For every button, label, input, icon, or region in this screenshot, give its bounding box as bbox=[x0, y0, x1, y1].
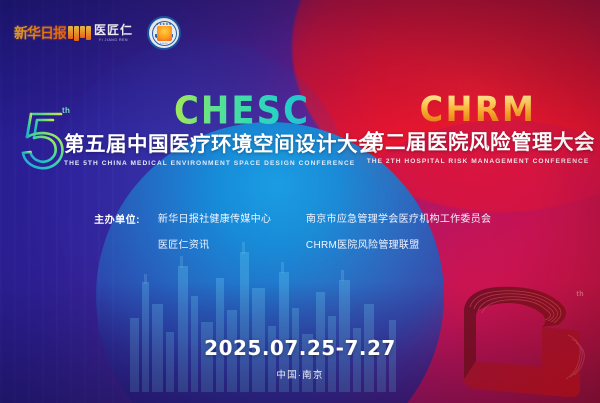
organizer-item: 南京市应急管理学会医疗机构工作委员会 bbox=[306, 210, 506, 225]
organizer-item: 新华日报社健康传媒中心 bbox=[158, 210, 306, 225]
yijiangren-logo[interactable]: 医匠仁 YI JIANG REN bbox=[94, 24, 133, 42]
sponsor-logo-bar: 新华日报 医匠仁 YI JIANG REN ★★★★★ ••••• bbox=[14, 16, 181, 50]
decorative-two-suffix: th bbox=[576, 291, 584, 298]
xinhua-daily-health-media-logo[interactable]: 新华日报 bbox=[14, 22, 80, 44]
organizers-section: 主办单位: 新华日报社健康传媒中心 医匠仁资讯 南京市应急管理学会医疗机构工作委… bbox=[0, 210, 600, 251]
badge-emblem-icon bbox=[157, 26, 172, 41]
chrm-title-en: THE 2TH HOSPITAL RISK MANAGEMENT CONFERE… bbox=[364, 158, 592, 165]
organizers-column-2: 南京市应急管理学会医疗机构工作委员会 CHRM医院风险管理联盟 bbox=[306, 210, 506, 251]
conference-titles: th CHESC 第五届中国医疗环境空间设计大会 THE 5TH CHINA M… bbox=[0, 92, 600, 184]
chrm-acronym: CHRM bbox=[364, 92, 592, 127]
emergency-management-association-badge[interactable]: ★★★★★ ••••• bbox=[147, 16, 181, 50]
right-conference-block: CHRM 第二届医院风险管理大会 THE 2TH HOSPITAL RISK M… bbox=[364, 92, 592, 165]
organizers-label: 主办单位: bbox=[94, 210, 140, 251]
conference-poster: 新华日报 医匠仁 YI JIANG REN ★★★★★ ••••• bbox=[0, 0, 600, 403]
organizer-item: CHRM医院风险管理联盟 bbox=[306, 236, 506, 251]
xinhua-logo-text: 新华日报 bbox=[14, 23, 66, 43]
chesc-title-cn: 第五届中国医疗环境空间设计大会 bbox=[64, 135, 354, 156]
chrm-title-cn: 第二届医院风险管理大会 bbox=[364, 133, 592, 154]
yijiangren-logo-cn: 医匠仁 bbox=[94, 24, 133, 37]
chesc-title-en: THE 5TH CHINA MEDICAL ENVIRONMENT SPACE … bbox=[64, 160, 354, 167]
organizer-item: 医匠仁资讯 bbox=[158, 236, 306, 251]
left-conference-block: CHESC 第五届中国医疗环境空间设计大会 THE 5TH CHINA MEDI… bbox=[64, 92, 354, 167]
badge-bottom-text: ••••• bbox=[149, 41, 179, 45]
xinhua-logo-blocks-icon bbox=[68, 26, 91, 41]
yijiangren-logo-en: YI JIANG REN bbox=[99, 38, 128, 42]
decorative-two-numeral-icon: th bbox=[446, 275, 596, 403]
badge-top-text: ★★★★★ bbox=[149, 22, 179, 26]
organizers-column-1: 新华日报社健康传媒中心 医匠仁资讯 bbox=[158, 210, 306, 251]
chesc-acronym: CHESC bbox=[130, 92, 354, 130]
